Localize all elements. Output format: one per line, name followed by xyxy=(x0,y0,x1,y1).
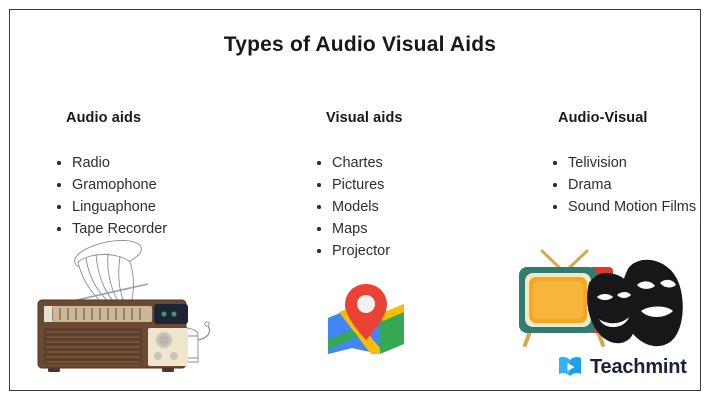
bullet-icon xyxy=(317,183,321,187)
teachmint-logo[interactable]: Teachmint xyxy=(557,354,687,380)
list-item-label: Sound Motion Films xyxy=(568,199,696,215)
column-visual-aids: Visual aids Chartes Pictures Models Maps… xyxy=(300,110,520,262)
column-heading-visual-aids: Visual aids xyxy=(300,110,520,126)
list-item: Tape Recorder xyxy=(54,218,270,240)
list-item-label: Models xyxy=(332,199,379,215)
list-item-label: Chartes xyxy=(332,155,383,171)
list-item-label: Pictures xyxy=(332,177,384,193)
list-item-label: Projector xyxy=(332,243,390,259)
bullet-icon xyxy=(553,161,557,165)
column-audio-visual: Audio-Visual Telivision Drama Sound Moti… xyxy=(540,110,710,218)
bullet-icon xyxy=(57,227,61,231)
teachmint-shield-play-icon xyxy=(557,354,583,380)
list-item-label: Maps xyxy=(332,221,367,237)
list-item-label: Radio xyxy=(72,155,110,171)
list-item: Telivision xyxy=(550,152,710,174)
list-item: Models xyxy=(314,196,520,218)
bullet-icon xyxy=(317,205,321,209)
list-item: Gramophone xyxy=(54,174,270,196)
list-item-label: Gramophone xyxy=(72,177,157,193)
list-item-label: Drama xyxy=(568,177,612,193)
list-item: Chartes xyxy=(314,152,520,174)
list-item-label: Tape Recorder xyxy=(72,221,167,237)
bullet-icon xyxy=(57,183,61,187)
bullet-icon xyxy=(553,205,557,209)
list-item: Pictures xyxy=(314,174,520,196)
list-item: Maps xyxy=(314,218,520,240)
list-item: Radio xyxy=(54,152,270,174)
bullet-icon xyxy=(317,161,321,165)
list-item: Linguaphone xyxy=(54,196,270,218)
bullet-icon xyxy=(57,161,61,165)
page-title: Types of Audio Visual Aids xyxy=(0,33,720,57)
list-item: Sound Motion Films xyxy=(550,196,710,218)
bullet-icon xyxy=(317,227,321,231)
logo-wordmark: Teachmint xyxy=(590,356,687,379)
radio-gramophone-illustration xyxy=(30,240,220,375)
bullet-icon xyxy=(553,183,557,187)
map-pin-illustration xyxy=(325,278,407,358)
list-item: Projector xyxy=(314,240,520,262)
bullet-icon xyxy=(317,249,321,253)
bullet-icon xyxy=(57,205,61,209)
list-item-label: Linguaphone xyxy=(72,199,156,215)
list-item: Drama xyxy=(550,174,710,196)
list-visual-aids: Chartes Pictures Models Maps Projector xyxy=(300,152,520,262)
column-heading-audio-aids: Audio aids xyxy=(40,110,270,126)
column-heading-audio-visual: Audio-Visual xyxy=(540,110,710,126)
television-theatre-masks-illustration xyxy=(515,245,700,357)
slide-canvas: Types of Audio Visual Aids Audio aids Ra… xyxy=(0,0,720,404)
list-audio-aids: Radio Gramophone Linguaphone Tape Record… xyxy=(40,152,270,240)
list-item-label: Telivision xyxy=(568,155,627,171)
column-audio-aids: Audio aids Radio Gramophone Linguaphone … xyxy=(40,110,270,240)
list-audio-visual: Telivision Drama Sound Motion Films xyxy=(540,152,710,218)
